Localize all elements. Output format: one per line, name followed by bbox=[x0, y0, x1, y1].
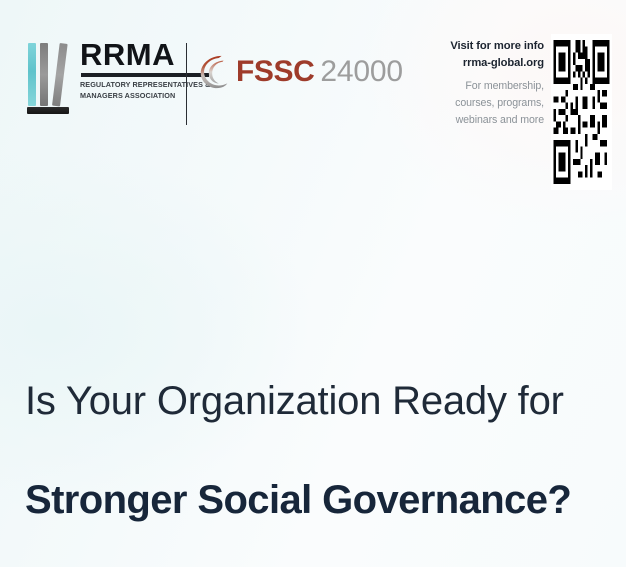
book-base-bar bbox=[27, 107, 69, 114]
qr-caption-line-2: rrma-global.org bbox=[443, 55, 544, 72]
book-spine-gray bbox=[40, 43, 48, 106]
rrma-logo: RRMA REGULATORY REPRESENTATIVES & MANAGE… bbox=[27, 38, 210, 116]
qr-caption-line-4: courses, programs, bbox=[443, 95, 544, 112]
qr-code-rrma-global[interactable] bbox=[551, 34, 612, 190]
headline-line-2: Stronger Social Governance? bbox=[25, 477, 585, 524]
qr-caption-line-3: For membership, bbox=[443, 78, 544, 95]
logo-separator-line bbox=[186, 43, 187, 125]
rrma-divider-rule bbox=[81, 73, 209, 77]
headline-block: Is Your Organization Ready for Stronger … bbox=[25, 378, 585, 524]
qr-info-block: Visit for more info rrma-global.org For … bbox=[443, 34, 612, 190]
qr-caption: Visit for more info rrma-global.org For … bbox=[443, 34, 551, 130]
header-bar: RRMA REGULATORY REPRESENTATIVES & MANAGE… bbox=[0, 0, 626, 200]
fssc-number: 24000 bbox=[320, 57, 402, 87]
qr-caption-line-5: webinars and more bbox=[443, 112, 544, 129]
book-spine-teal bbox=[28, 43, 36, 106]
fssc-logo: FSSC 24000 bbox=[196, 52, 403, 92]
promotional-slide: RRMA REGULATORY REPRESENTATIVES & MANAGE… bbox=[0, 0, 626, 567]
book-spine-tilted bbox=[52, 43, 68, 107]
rrma-wordmark: RRMA REGULATORY REPRESENTATIVES & MANAGE… bbox=[80, 38, 210, 101]
fssc-swirl-icon bbox=[196, 52, 234, 92]
headline-line-1: Is Your Organization Ready for bbox=[25, 378, 585, 425]
books-stack-icon bbox=[27, 38, 71, 116]
rrma-subtitle: REGULATORY REPRESENTATIVES & MANAGERS AS… bbox=[80, 80, 213, 101]
rrma-title: RRMA bbox=[80, 40, 210, 70]
fssc-name: FSSC bbox=[236, 57, 314, 87]
qr-caption-line-1: Visit for more info bbox=[443, 38, 544, 55]
